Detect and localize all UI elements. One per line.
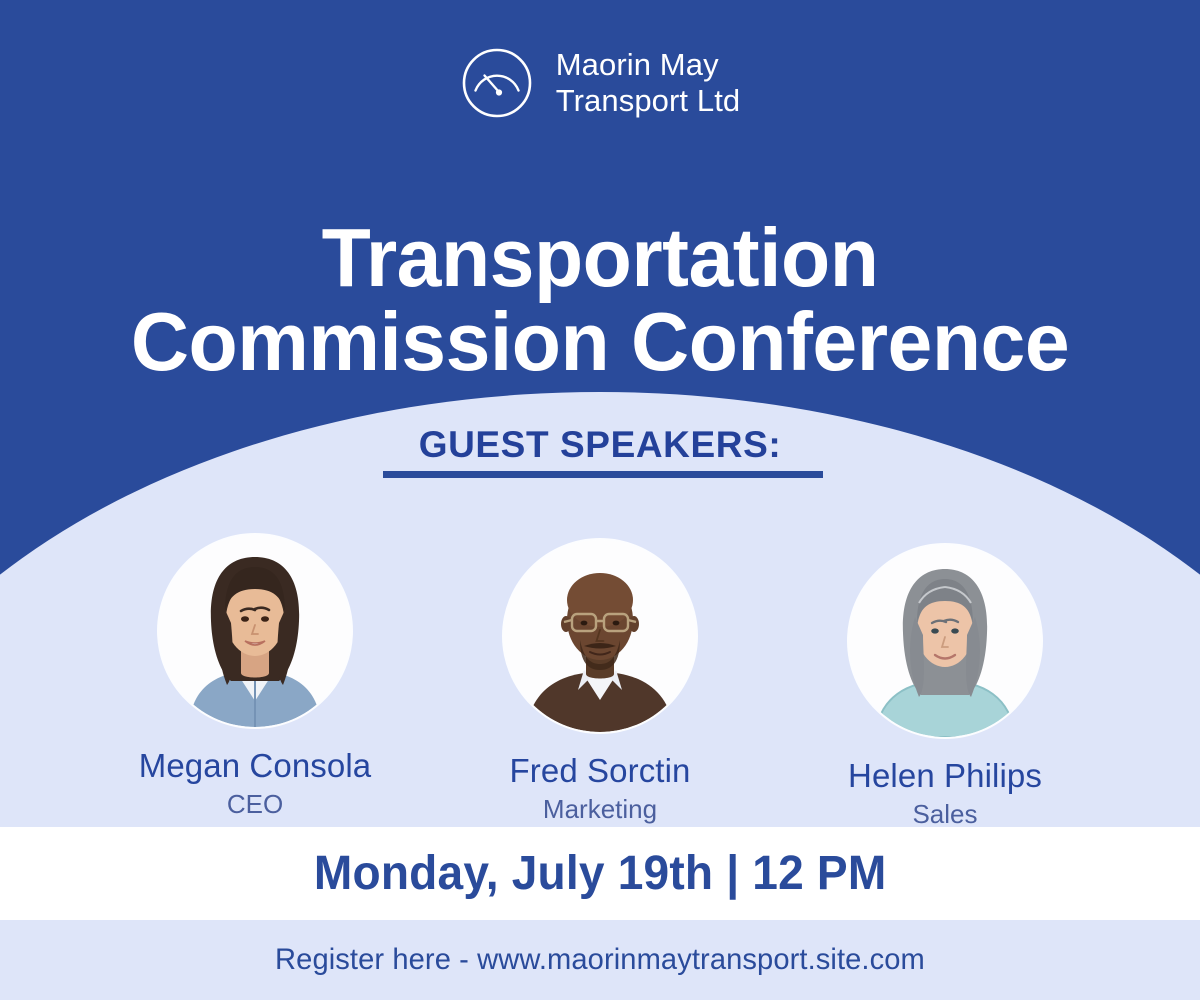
page-title: Transportation Commission Conference	[18, 216, 1182, 385]
register-footer-band[interactable]: Register here - www.maorinmaytransport.s…	[0, 920, 1200, 1000]
speaker-role: Sales	[773, 799, 1118, 830]
speaker-role: CEO	[83, 789, 428, 820]
speaker-name: Megan Consola	[83, 747, 428, 785]
speaker-card: Helen Philips Sales	[773, 545, 1118, 830]
brand-header: Maorin May Transport Ltd	[0, 46, 1200, 120]
portrait-woman-gray-hair-teal-sweater	[849, 545, 1041, 737]
guest-speakers-label: GUEST SPEAKERS:	[419, 424, 782, 466]
guest-speakers-heading: GUEST SPEAKERS:	[0, 424, 1200, 466]
avatar	[159, 535, 351, 727]
event-date-band: Monday, July 19th | 12 PM	[0, 827, 1200, 920]
conference-poster: Maorin May Transport Ltd Transportation …	[0, 0, 1200, 1000]
avatar	[849, 545, 1041, 737]
speaker-name: Fred Sorctin	[428, 752, 773, 790]
speaker-name: Helen Philips	[773, 757, 1118, 795]
speaker-card: Fred Sorctin Marketing	[428, 540, 773, 825]
portrait-bald-man-glasses-brown-sweater	[504, 540, 696, 732]
speaker-role: Marketing	[428, 794, 773, 825]
portrait-woman-dark-wavy-hair-denim-shirt	[159, 535, 351, 727]
speaker-card: Megan Consola CEO	[83, 535, 428, 820]
speedometer-gauge-icon	[460, 46, 534, 120]
register-link-text[interactable]: Register here - www.maorinmaytransport.s…	[275, 943, 925, 977]
event-date-text: Monday, July 19th | 12 PM	[314, 846, 887, 901]
avatar	[504, 540, 696, 732]
brand-name: Maorin May Transport Ltd	[556, 47, 741, 119]
speakers-list: Megan Consola CEO	[0, 530, 1200, 830]
heading-underline-rule	[383, 471, 823, 478]
